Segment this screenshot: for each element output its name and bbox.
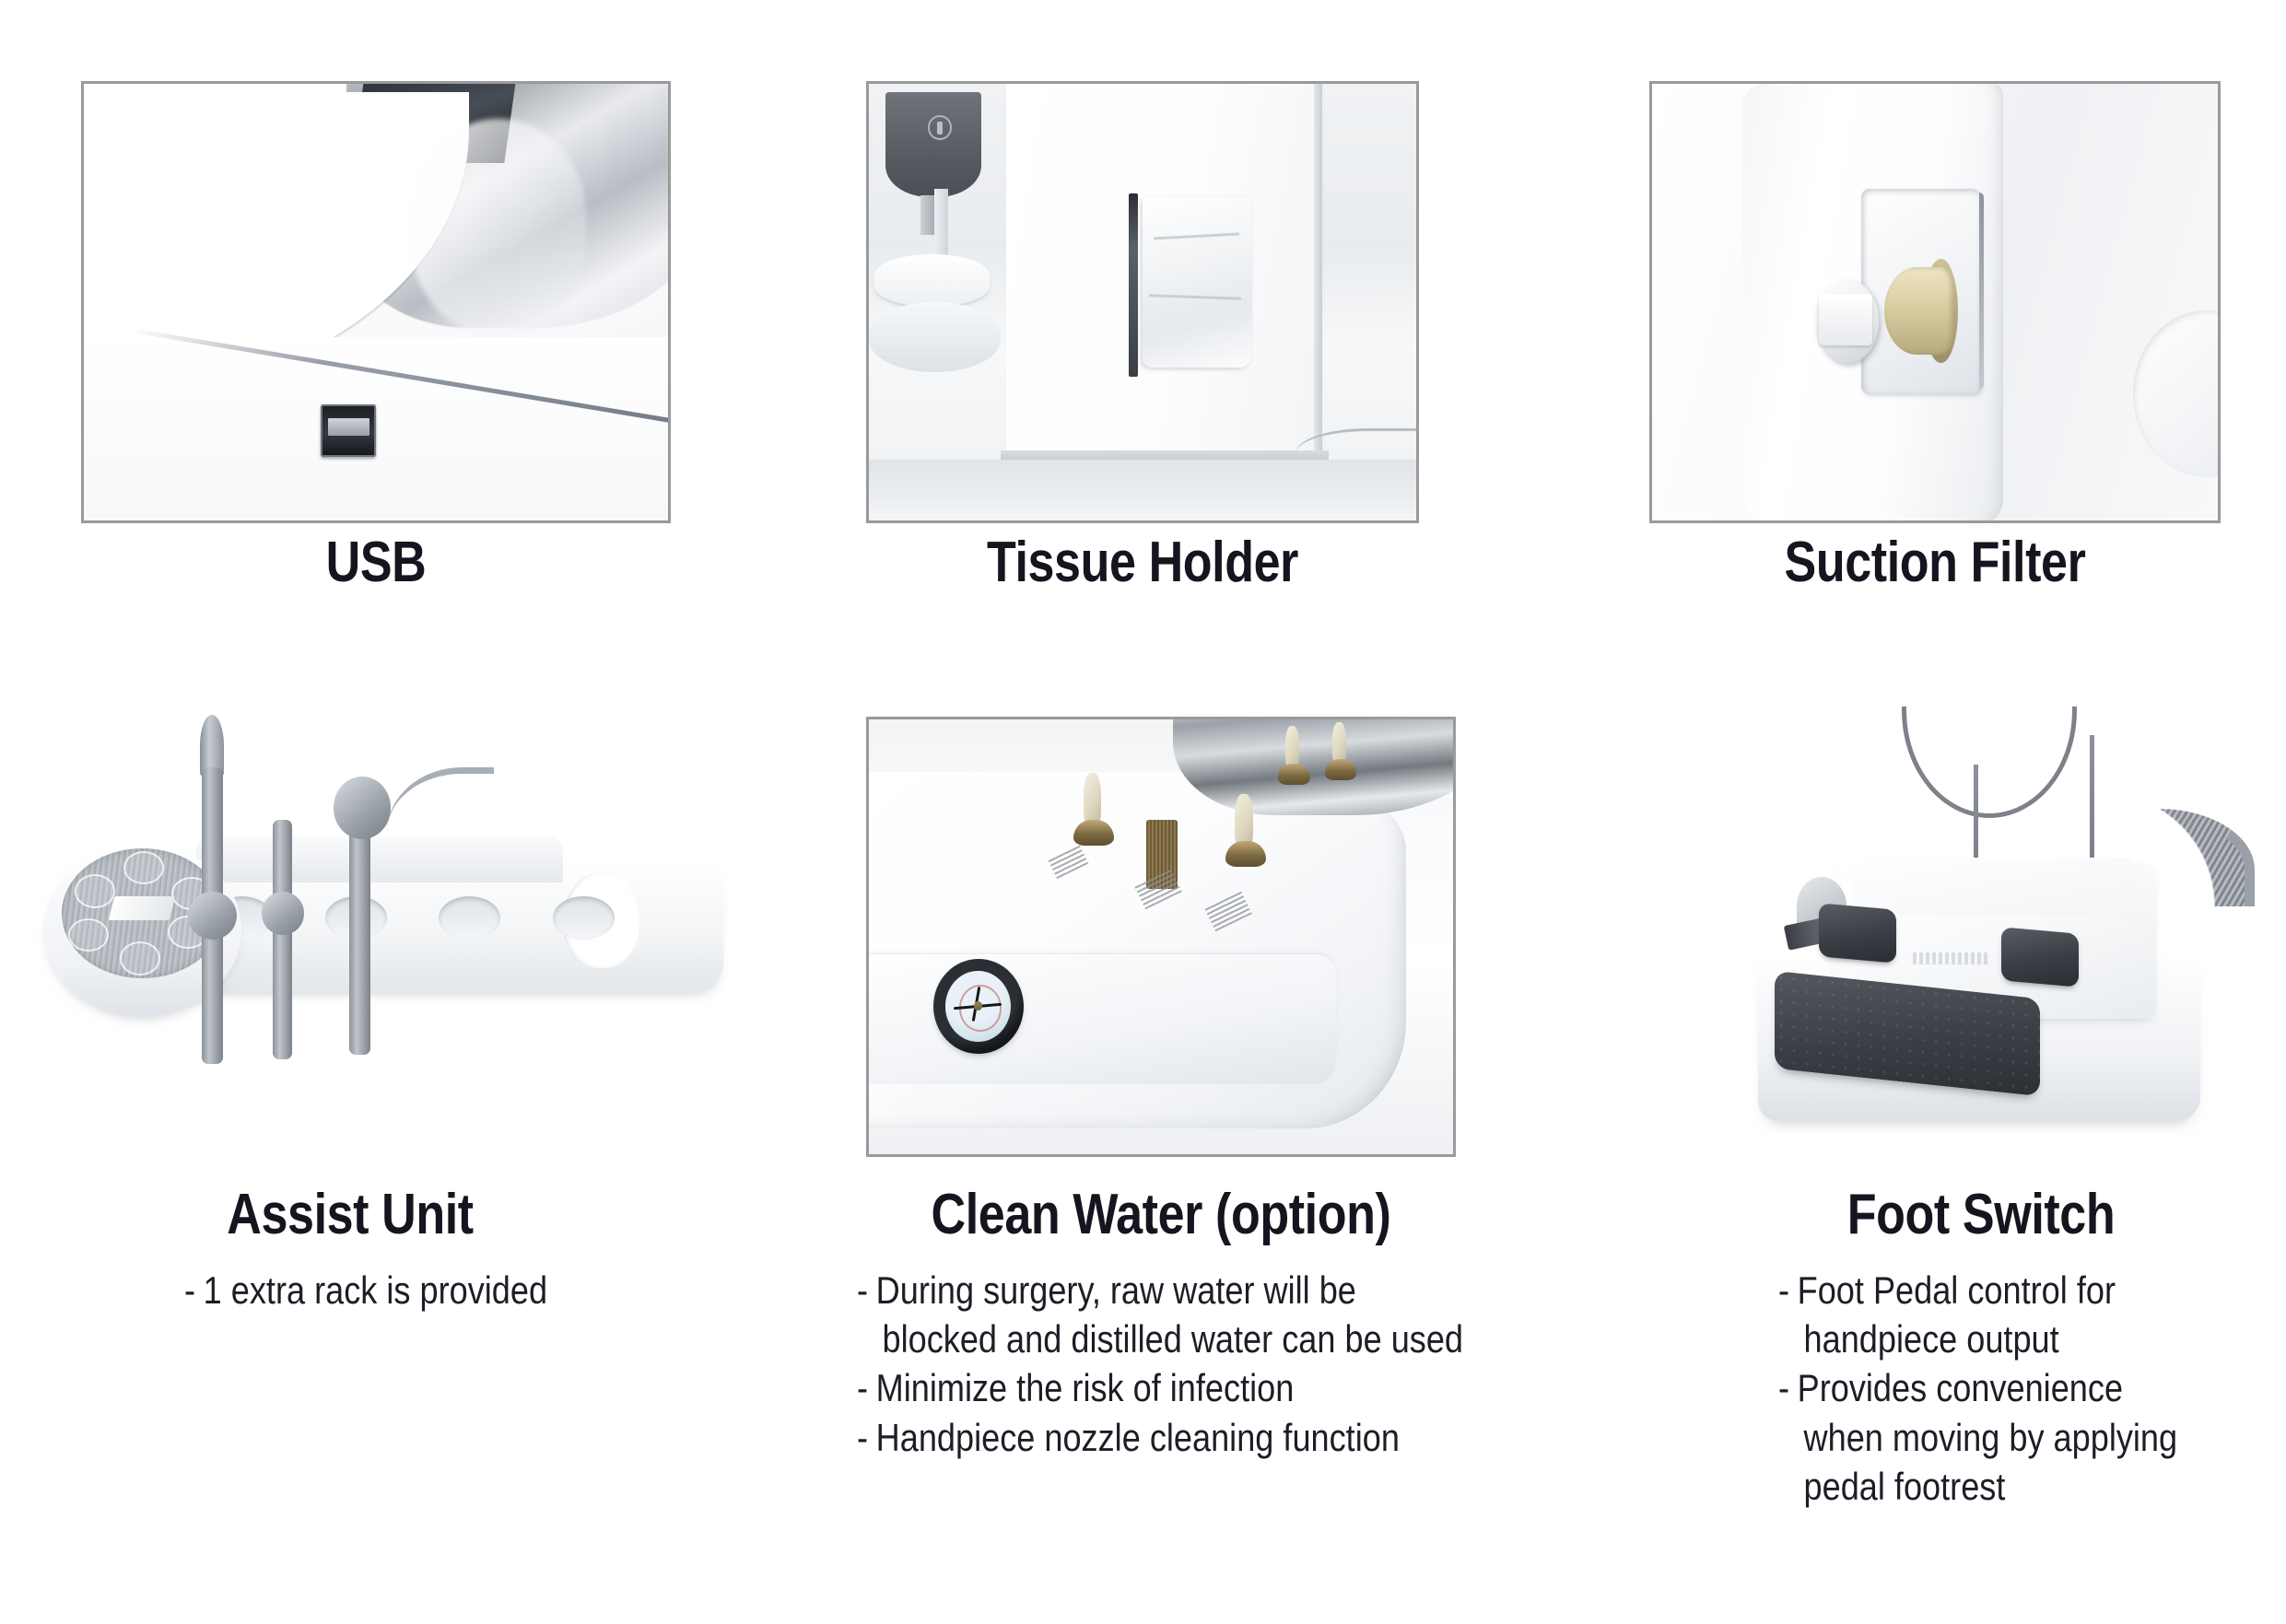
foot-switch-title: Foot Switch	[1710, 1186, 2252, 1244]
bullet-text: During surgery, raw water will be	[876, 1267, 1356, 1314]
usb-port-photo	[84, 84, 668, 520]
chrome-ring	[1173, 717, 1456, 815]
handpiece-3-head	[334, 777, 391, 839]
valve-lever-3[interactable]	[1278, 732, 1310, 785]
foot-switch-photo	[1714, 682, 2267, 1170]
tissue-holder-photo-frame	[866, 81, 1419, 523]
bullet-dash: -	[184, 1267, 195, 1314]
bullet-dash: -	[857, 1364, 868, 1411]
bullet-text: blocked and distilled water can be used	[883, 1315, 1464, 1362]
button-lp[interactable]	[120, 941, 160, 975]
button-chair-up[interactable]	[68, 918, 109, 952]
handpiece-1-head	[188, 892, 237, 940]
bullet-text: Foot Pedal control for	[1798, 1267, 2116, 1314]
bullet-text: pedal footrest	[1804, 1463, 2006, 1510]
pressure-gauge	[933, 959, 1024, 1055]
valve-lever-2[interactable]	[1225, 802, 1266, 868]
clean-water-title: Clean Water (option)	[836, 1186, 1486, 1244]
clean-water-bullets: -During surgery, raw water will be block…	[857, 1267, 1539, 1463]
valve-lever-1[interactable]	[1073, 780, 1114, 846]
button-water[interactable]	[123, 851, 164, 884]
bullet-text: Minimize the risk of infection	[876, 1364, 1295, 1411]
handpiece-2	[273, 820, 293, 1059]
tissue-sheet-icon	[1143, 197, 1252, 368]
usb-title: USB	[128, 534, 624, 591]
soap-dispenser-icon	[885, 92, 981, 197]
pedal-left[interactable]	[1819, 903, 1896, 964]
foot-switch-photo-frame	[1714, 682, 2267, 1170]
bullet-text: Provides convenience	[1798, 1364, 2123, 1411]
tissue-holder-photo	[869, 84, 1416, 520]
usb-photo-frame	[81, 81, 671, 523]
valve-lever-4[interactable]	[1325, 728, 1357, 780]
assist-unit-title: Assist Unit	[79, 1186, 621, 1244]
pedal-right[interactable]	[2001, 928, 2079, 988]
brand-logo-n2	[109, 896, 176, 920]
suction-filter-photo-frame	[1649, 81, 2221, 523]
bullet-text: handpiece output	[1804, 1315, 2059, 1362]
assist-unit-photo	[28, 700, 792, 1179]
button-drain[interactable]	[75, 874, 115, 907]
tissue-holder-title: Tissue Holder	[872, 534, 1413, 591]
bullet-text: when moving by applying	[1804, 1414, 2178, 1461]
clean-water-photo-frame	[866, 717, 1456, 1157]
air-water-syringe-icon	[387, 767, 494, 860]
suction-filter-photo	[1652, 84, 2218, 520]
assist-unit-photo-frame	[28, 700, 792, 1179]
bullet-dash: -	[857, 1267, 868, 1314]
bullet-text: 1 extra rack is provided	[204, 1267, 547, 1314]
clean-water-photo	[869, 719, 1453, 1154]
assist-unit-bullets: -1 extra rack is provided	[184, 1267, 675, 1315]
bullet-text: Handpiece nozzle cleaning function	[876, 1414, 1400, 1461]
usb-port-icon	[321, 404, 376, 457]
filter-cartridge-icon	[1884, 267, 1955, 355]
handpiece-3	[349, 805, 370, 1054]
bullet-dash: -	[1778, 1267, 1789, 1314]
brand-logo-medigen	[1913, 952, 1990, 964]
carry-handle-icon	[1902, 707, 2077, 819]
feature-sheet: USB Tissue Holder	[0, 0, 2286, 1624]
bullet-dash: -	[857, 1414, 868, 1461]
handpiece-2-head	[262, 892, 304, 935]
foot-switch-bullets: -Foot Pedal control for handpiece output…	[1778, 1267, 2254, 1512]
bullet-dash: -	[1778, 1364, 1789, 1411]
suction-filter-title: Suction Filter	[1657, 534, 2214, 591]
